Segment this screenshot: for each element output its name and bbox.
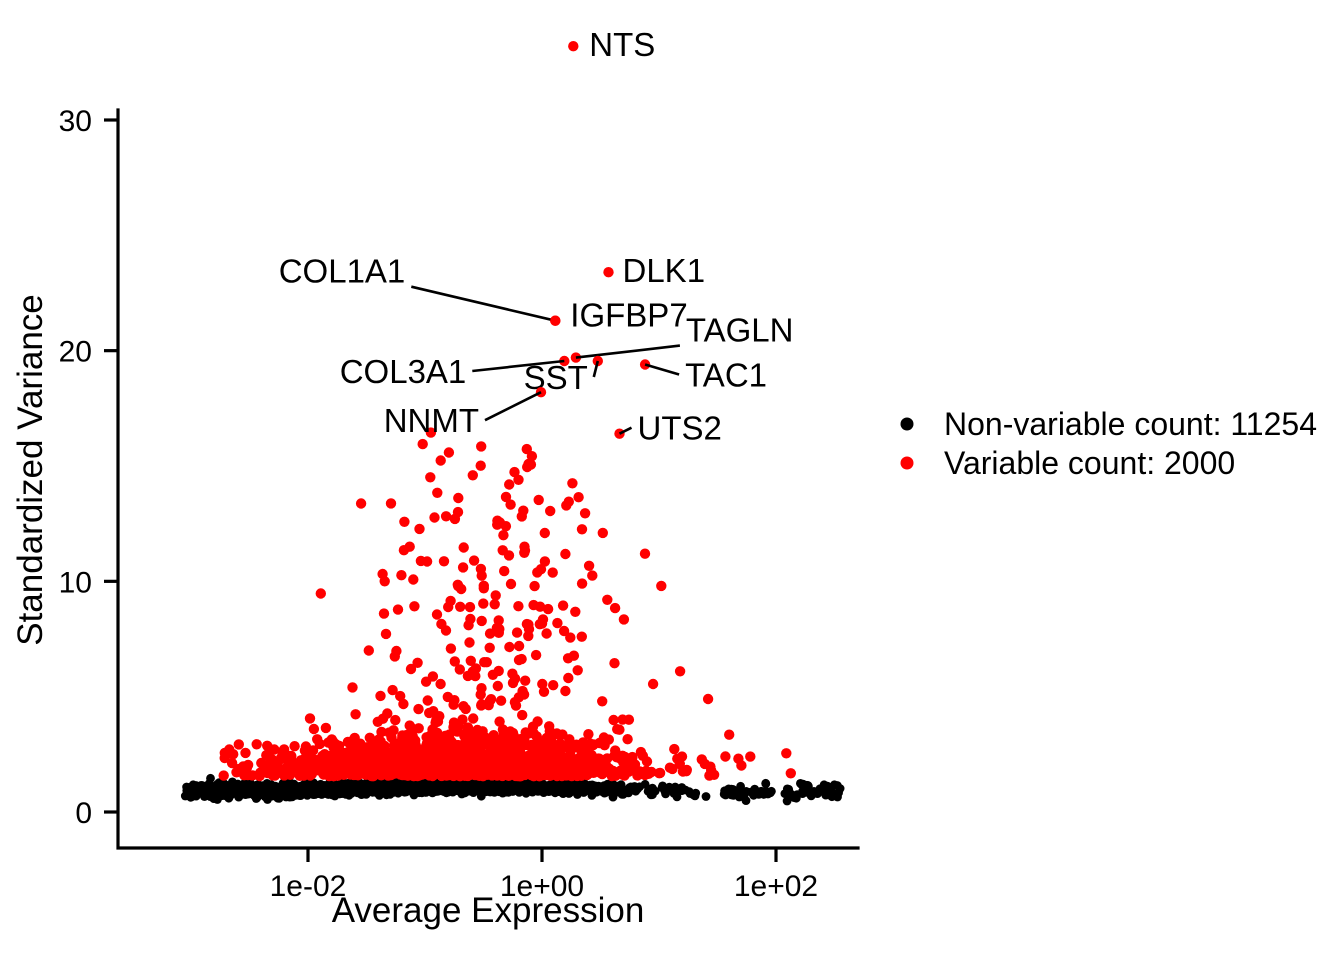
data-point-variable [474, 743, 484, 753]
data-point-non-variable [648, 790, 657, 799]
gene-label-dlk1: DLK1 [623, 252, 706, 289]
data-point-variable [435, 679, 445, 689]
data-point-variable [563, 673, 573, 683]
data-point-variable [599, 732, 609, 742]
data-point-variable [540, 528, 550, 538]
data-point-variable [389, 745, 399, 755]
data-point-non-variable [456, 783, 465, 792]
data-point-non-variable [235, 786, 244, 795]
data-point-variable [548, 680, 558, 690]
data-point-variable [508, 760, 518, 770]
data-point-variable [412, 763, 422, 773]
data-point-variable [492, 623, 502, 633]
data-point-non-variable [371, 787, 380, 796]
data-point-variable [337, 768, 347, 778]
legend-marker-variable [901, 457, 914, 470]
data-point-variable [577, 524, 587, 534]
data-point-variable [429, 512, 439, 522]
data-point-variable [498, 735, 508, 745]
data-point-non-variable [435, 781, 444, 790]
data-point-variable [554, 730, 564, 740]
data-point-variable [498, 530, 508, 540]
data-point-variable [577, 578, 587, 588]
data-point-variable [441, 749, 451, 759]
data-point-variable [528, 722, 538, 732]
data-point-non-variable [272, 791, 281, 800]
data-point-variable [535, 602, 545, 612]
data-point-non-variable [827, 787, 836, 796]
data-point-non-variable [311, 787, 320, 796]
data-point-variable [499, 566, 509, 576]
data-point-variable [398, 699, 408, 709]
data-point-variable [436, 455, 446, 465]
data-point-variable [377, 569, 387, 579]
data-point-variable [399, 545, 409, 555]
data-point-variable [560, 686, 570, 696]
data-point-variable [563, 653, 573, 663]
data-point-variable [439, 556, 449, 566]
data-point-non-variable [468, 781, 477, 790]
data-point-variable [262, 741, 272, 751]
data-point-variable [495, 752, 505, 762]
data-point-variable [259, 760, 269, 770]
data-point-variable [610, 768, 620, 778]
data-point-non-variable [332, 783, 341, 792]
data-point-variable [544, 721, 554, 731]
data-point-variable [781, 748, 791, 758]
data-point-variable [353, 765, 363, 775]
data-point-variable [457, 761, 467, 771]
data-point-variable [414, 524, 424, 534]
data-point-non-variable [511, 782, 520, 791]
gene-label-nnmt: NNMT [384, 402, 479, 439]
data-point-non-variable [428, 786, 437, 795]
data-point-variable [476, 461, 486, 471]
y-tick-label: 30 [59, 105, 92, 138]
data-point-variable [423, 695, 433, 705]
data-point-variable [617, 714, 627, 724]
data-point-variable [490, 599, 500, 609]
data-point-variable [584, 561, 594, 571]
data-point-variable [513, 601, 523, 611]
data-point-variable [597, 696, 607, 706]
data-point-variable [219, 770, 229, 780]
data-point-variable [736, 760, 746, 770]
data-point-variable [465, 602, 475, 612]
data-point-variable [364, 645, 374, 655]
data-point-variable [453, 580, 463, 590]
data-point-variable [623, 767, 633, 777]
data-point-variable [565, 632, 575, 642]
data-point-variable [537, 618, 547, 628]
data-point-variable [463, 671, 473, 681]
data-point-variable [609, 658, 619, 668]
data-point-variable [535, 769, 545, 779]
data-point-variable [356, 498, 366, 508]
data-point-variable [478, 598, 488, 608]
data-point-variable [504, 642, 514, 652]
data-point-variable [560, 549, 570, 559]
data-point-non-variable [299, 785, 308, 794]
data-point-variable [587, 570, 597, 580]
data-point-variable [704, 770, 714, 780]
data-point-non-variable [257, 786, 266, 795]
scatter-plot-figure: 0102030 1e-021e+001e+02 Average Expressi… [0, 0, 1344, 960]
data-point-variable [675, 666, 685, 676]
gene-label-uts2: UTS2 [638, 410, 722, 447]
data-point-variable [227, 758, 237, 768]
data-point-variable [240, 748, 250, 758]
data-point-variable [669, 744, 679, 754]
data-point-variable [418, 439, 428, 449]
data-point-variable [678, 766, 688, 776]
data-point-variable [646, 767, 656, 777]
data-point-non-variable [748, 788, 757, 797]
data-point-variable [445, 596, 455, 606]
data-point-variable [305, 713, 315, 723]
data-point-non-variable [520, 786, 529, 795]
data-point-non-variable [820, 780, 829, 789]
data-point-non-variable [792, 794, 801, 803]
data-point-variable [506, 579, 516, 589]
data-point-non-variable [205, 786, 214, 795]
data-point-variable [545, 506, 555, 516]
data-point-non-variable [617, 780, 626, 789]
data-point-non-variable [798, 787, 807, 796]
data-point-variable [350, 709, 360, 719]
data-point-variable [656, 581, 666, 591]
data-point-non-variable [491, 783, 500, 792]
data-point-variable [522, 444, 532, 454]
data-point-variable [406, 664, 416, 674]
data-point-variable [469, 555, 479, 565]
data-point-variable [573, 492, 583, 502]
data-point-variable [552, 618, 562, 628]
data-point-variable [321, 723, 331, 733]
data-point-variable [468, 713, 478, 723]
data-point-variable [316, 588, 326, 598]
data-point-variable [608, 715, 618, 725]
data-point-variable [638, 751, 648, 761]
data-point-variable [515, 771, 525, 781]
data-point-variable [309, 724, 319, 734]
data-point-variable [570, 607, 580, 617]
data-point-variable [464, 637, 474, 647]
data-point-variable [640, 549, 650, 559]
data-point-non-variable [346, 789, 355, 798]
data-point-non-variable [550, 786, 559, 795]
data-point-variable [724, 730, 734, 740]
data-point-variable [549, 754, 559, 764]
y-tick-label: 20 [59, 336, 92, 369]
data-point-variable [509, 749, 519, 759]
data-point-variable [391, 646, 401, 656]
plot-canvas: 0102030 1e-021e+001e+02 Average Expressi… [0, 0, 1344, 960]
data-point-variable [375, 752, 385, 762]
data-point-variable [577, 632, 587, 642]
data-point-variable [484, 700, 494, 710]
data-point-variable [432, 488, 442, 498]
data-point-variable [672, 754, 682, 764]
labeled-gene-point-igfbp7 [550, 316, 560, 326]
data-point-variable [298, 759, 308, 769]
data-point-variable [494, 769, 504, 779]
data-point-variable [786, 768, 796, 778]
data-point-variable [455, 664, 465, 674]
data-point-variable [396, 570, 406, 580]
data-point-variable [548, 769, 558, 779]
data-point-variable [514, 655, 524, 665]
data-point-variable [338, 748, 348, 758]
data-point-variable [522, 462, 532, 472]
data-point-variable [446, 736, 456, 746]
data-point-variable [479, 583, 489, 593]
data-point-variable [567, 766, 577, 776]
data-point-variable [444, 447, 454, 457]
data-point-variable [501, 492, 511, 502]
data-point-variable [393, 604, 403, 614]
data-point-variable [539, 687, 549, 697]
data-point-variable [614, 725, 624, 735]
data-point-variable [648, 679, 658, 689]
data-point-variable [531, 740, 541, 750]
data-point-variable [548, 567, 558, 577]
data-point-variable [477, 616, 487, 626]
data-point-variable [374, 765, 384, 775]
data-point-variable [496, 696, 506, 706]
data-point-variable [498, 545, 508, 555]
data-point-variable [436, 619, 446, 629]
data-point-variable [234, 739, 244, 749]
data-point-variable [493, 681, 503, 691]
data-point-variable [407, 753, 417, 763]
labeled-gene-point-dlk1 [603, 267, 613, 277]
data-point-non-variable [702, 792, 711, 801]
data-point-variable [585, 738, 595, 748]
data-point-non-variable [181, 792, 190, 801]
data-point-variable [520, 676, 530, 686]
data-point-non-variable [391, 783, 400, 792]
data-point-variable [517, 686, 527, 696]
legend-marker-non-variable [901, 418, 914, 431]
data-point-variable [285, 770, 295, 780]
data-point-non-variable [481, 786, 490, 795]
data-point-variable [564, 741, 574, 751]
data-point-variable [534, 495, 544, 505]
legend-label-non-variable: Non-variable count: 11254 [944, 406, 1317, 442]
data-point-variable [364, 757, 374, 767]
data-point-variable [399, 517, 409, 527]
legend-label-variable: Variable count: 2000 [944, 445, 1235, 481]
data-point-variable [619, 614, 629, 624]
data-point-variable [586, 750, 596, 760]
data-point-non-variable [729, 785, 738, 794]
data-point-variable [507, 669, 517, 679]
data-point-non-variable [566, 783, 575, 792]
data-point-variable [443, 768, 453, 778]
data-point-variable [448, 700, 458, 710]
data-point-variable [463, 722, 473, 732]
gene-label-col3a1: COL3A1 [340, 353, 467, 390]
data-point-non-variable [189, 789, 198, 798]
gene-label-nts: NTS [589, 26, 655, 63]
data-point-non-variable [806, 788, 815, 797]
data-point-non-variable [673, 793, 682, 802]
data-point-variable [476, 441, 486, 451]
labeled-gene-point-nts [568, 41, 578, 51]
data-point-variable [517, 710, 527, 720]
data-point-non-variable [685, 787, 694, 796]
data-point-variable [598, 528, 608, 538]
data-point-variable [514, 641, 524, 651]
data-point-variable [459, 542, 469, 552]
data-point-variable [455, 602, 465, 612]
data-point-non-variable [358, 784, 367, 793]
data-point-variable [269, 765, 279, 775]
data-point-variable [745, 751, 755, 761]
data-point-variable [512, 627, 522, 637]
data-point-variable [558, 600, 568, 610]
data-point-variable [301, 741, 311, 751]
gene-label-igfbp7: IGFBP7 [570, 297, 687, 334]
y-tick-label: 10 [59, 566, 92, 599]
data-point-variable [479, 657, 489, 667]
data-point-non-variable [623, 788, 632, 797]
data-point-variable [441, 511, 451, 521]
data-point-variable [485, 643, 495, 653]
data-point-variable [529, 581, 539, 591]
data-point-variable [432, 609, 442, 619]
data-point-variable [309, 763, 319, 773]
data-point-variable [409, 601, 419, 611]
data-point-variable [243, 760, 253, 770]
data-point-non-variable [319, 786, 328, 795]
data-point-variable [476, 564, 486, 574]
data-point-non-variable [408, 787, 417, 796]
data-point-variable [513, 475, 523, 485]
data-point-variable [465, 614, 475, 624]
data-point-variable [602, 595, 612, 605]
data-point-variable [601, 764, 611, 774]
data-point-variable [350, 733, 360, 743]
data-point-variable [289, 741, 299, 751]
data-point-variable [413, 704, 423, 714]
x-axis-title: Average Expression [332, 891, 645, 930]
data-point-variable [425, 472, 435, 482]
y-axis-title: Standardized Variance [11, 294, 50, 646]
data-point-variable [667, 764, 677, 774]
data-point-variable [397, 733, 407, 743]
data-point-non-variable [661, 790, 670, 799]
data-point-variable [387, 763, 397, 773]
data-point-non-variable [446, 781, 455, 790]
data-point-variable [421, 677, 431, 687]
data-point-variable [381, 629, 391, 639]
gene-label-tac1: TAC1 [685, 357, 767, 394]
data-point-non-variable [538, 783, 547, 792]
data-point-variable [488, 670, 498, 680]
data-point-non-variable [582, 784, 591, 793]
data-point-non-variable [671, 783, 680, 792]
data-point-variable [321, 761, 331, 771]
data-point-variable [347, 682, 357, 692]
data-point-non-variable [761, 779, 770, 788]
data-point-variable [376, 727, 386, 737]
data-point-non-variable [781, 789, 790, 798]
data-point-variable [535, 754, 545, 764]
data-point-variable [277, 747, 287, 757]
data-point-non-variable [796, 779, 805, 788]
data-point-variable [476, 689, 486, 699]
gene-label-tagln: TAGLN [686, 312, 794, 349]
data-point-variable [470, 731, 480, 741]
data-point-variable [426, 750, 436, 760]
data-point-variable [468, 470, 478, 480]
data-point-variable [427, 724, 437, 734]
data-point-variable [483, 756, 493, 766]
data-point-variable [583, 729, 593, 739]
gene-label-sst: SST [524, 359, 588, 396]
data-point-variable [252, 739, 262, 749]
data-point-non-variable [224, 785, 233, 794]
data-point-variable [517, 511, 527, 521]
data-point-variable [408, 574, 418, 584]
data-point-variable [487, 735, 497, 745]
data-point-variable [610, 603, 620, 613]
gene-label-col1a1: COL1A1 [279, 253, 406, 290]
data-point-variable [453, 493, 463, 503]
data-point-non-variable [529, 784, 538, 793]
data-point-variable [375, 691, 385, 701]
data-point-non-variable [263, 779, 272, 788]
data-point-variable [454, 721, 464, 731]
data-point-variable [531, 650, 541, 660]
data-point-variable [521, 751, 531, 761]
data-point-variable [570, 754, 580, 764]
data-point-variable [315, 739, 325, 749]
data-point-variable [519, 542, 529, 552]
data-point-variable [379, 608, 389, 618]
data-point-variable [228, 749, 238, 759]
data-point-variable [416, 556, 426, 566]
data-point-non-variable [740, 792, 749, 801]
data-point-variable [720, 751, 730, 761]
data-point-non-variable [596, 783, 605, 792]
data-point-non-variable [341, 779, 350, 788]
data-point-variable [390, 715, 400, 725]
data-point-variable [434, 711, 444, 721]
data-point-variable [466, 656, 476, 666]
data-point-variable [495, 517, 505, 527]
data-point-variable [509, 731, 519, 741]
data-point-variable [703, 694, 713, 704]
y-tick-label: 0 [75, 797, 92, 830]
data-point-variable [458, 701, 468, 711]
data-point-variable [622, 734, 632, 744]
data-point-non-variable [417, 787, 426, 796]
data-point-non-variable [767, 787, 776, 796]
data-point-variable [573, 665, 583, 675]
data-point-variable [540, 556, 550, 566]
data-point-variable [564, 497, 574, 507]
data-point-non-variable [279, 784, 288, 793]
data-point-variable [446, 643, 456, 653]
data-point-variable [541, 628, 551, 638]
data-point-variable [491, 590, 501, 600]
x-tick-label: 1e+02 [734, 870, 818, 903]
data-point-variable [504, 479, 514, 489]
data-point-variable [328, 740, 338, 750]
